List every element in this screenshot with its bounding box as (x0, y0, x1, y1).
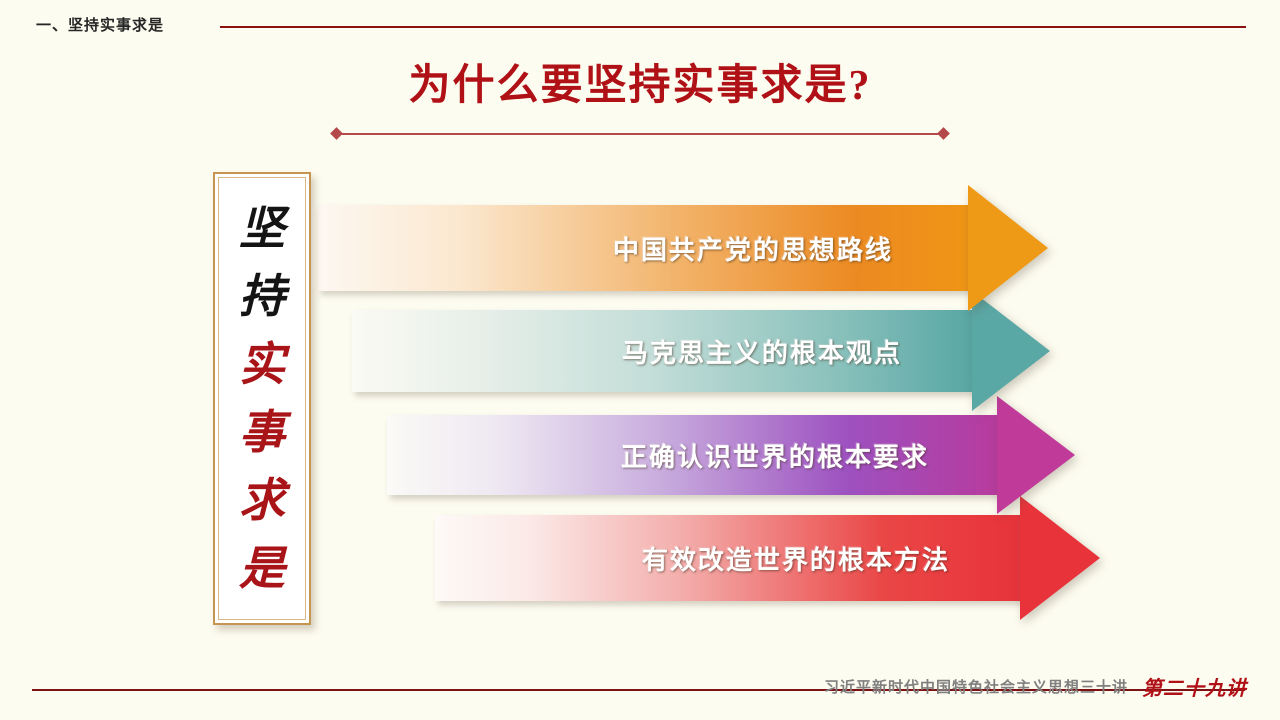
footer-lecture-number: 第二十九讲 (1142, 672, 1247, 701)
scroll-char: 事 (239, 399, 285, 467)
scroll-char: 坚 (239, 195, 285, 263)
arrow-head-icon (997, 396, 1075, 514)
arrow-head-icon (1020, 496, 1100, 620)
arrow-label: 马克思主义的根本观点 (352, 310, 902, 392)
arrow-label: 中国共产党的思想路线 (318, 205, 893, 291)
arrow-list: 中国共产党的思想路线 马克思主义的根本观点 正确认识世界的根本要求 有效改造世界… (0, 0, 1280, 720)
vertical-scroll-panel: 坚 持 实 事 求 是 (213, 172, 311, 625)
arrow-item-4[interactable]: 有效改造世界的根本方法 (435, 515, 1100, 601)
scroll-char: 持 (239, 263, 285, 331)
arrow-item-2[interactable]: 马克思主义的根本观点 (352, 310, 1052, 392)
arrow-label: 有效改造世界的根本方法 (435, 515, 950, 601)
arrow-item-3[interactable]: 正确认识世界的根本要求 (387, 415, 1077, 495)
arrow-head-icon (968, 185, 1048, 311)
arrow-item-1[interactable]: 中国共产党的思想路线 (318, 205, 1048, 291)
footer-series-title: 习近平新时代中国特色社会主义思想三十讲 (824, 676, 1128, 697)
vertical-scroll-inner: 坚 持 实 事 求 是 (218, 177, 306, 620)
scroll-char: 是 (239, 535, 285, 603)
scroll-char: 求 (239, 467, 285, 535)
scroll-char: 实 (239, 331, 285, 399)
arrow-label: 正确认识世界的根本要求 (387, 415, 929, 495)
